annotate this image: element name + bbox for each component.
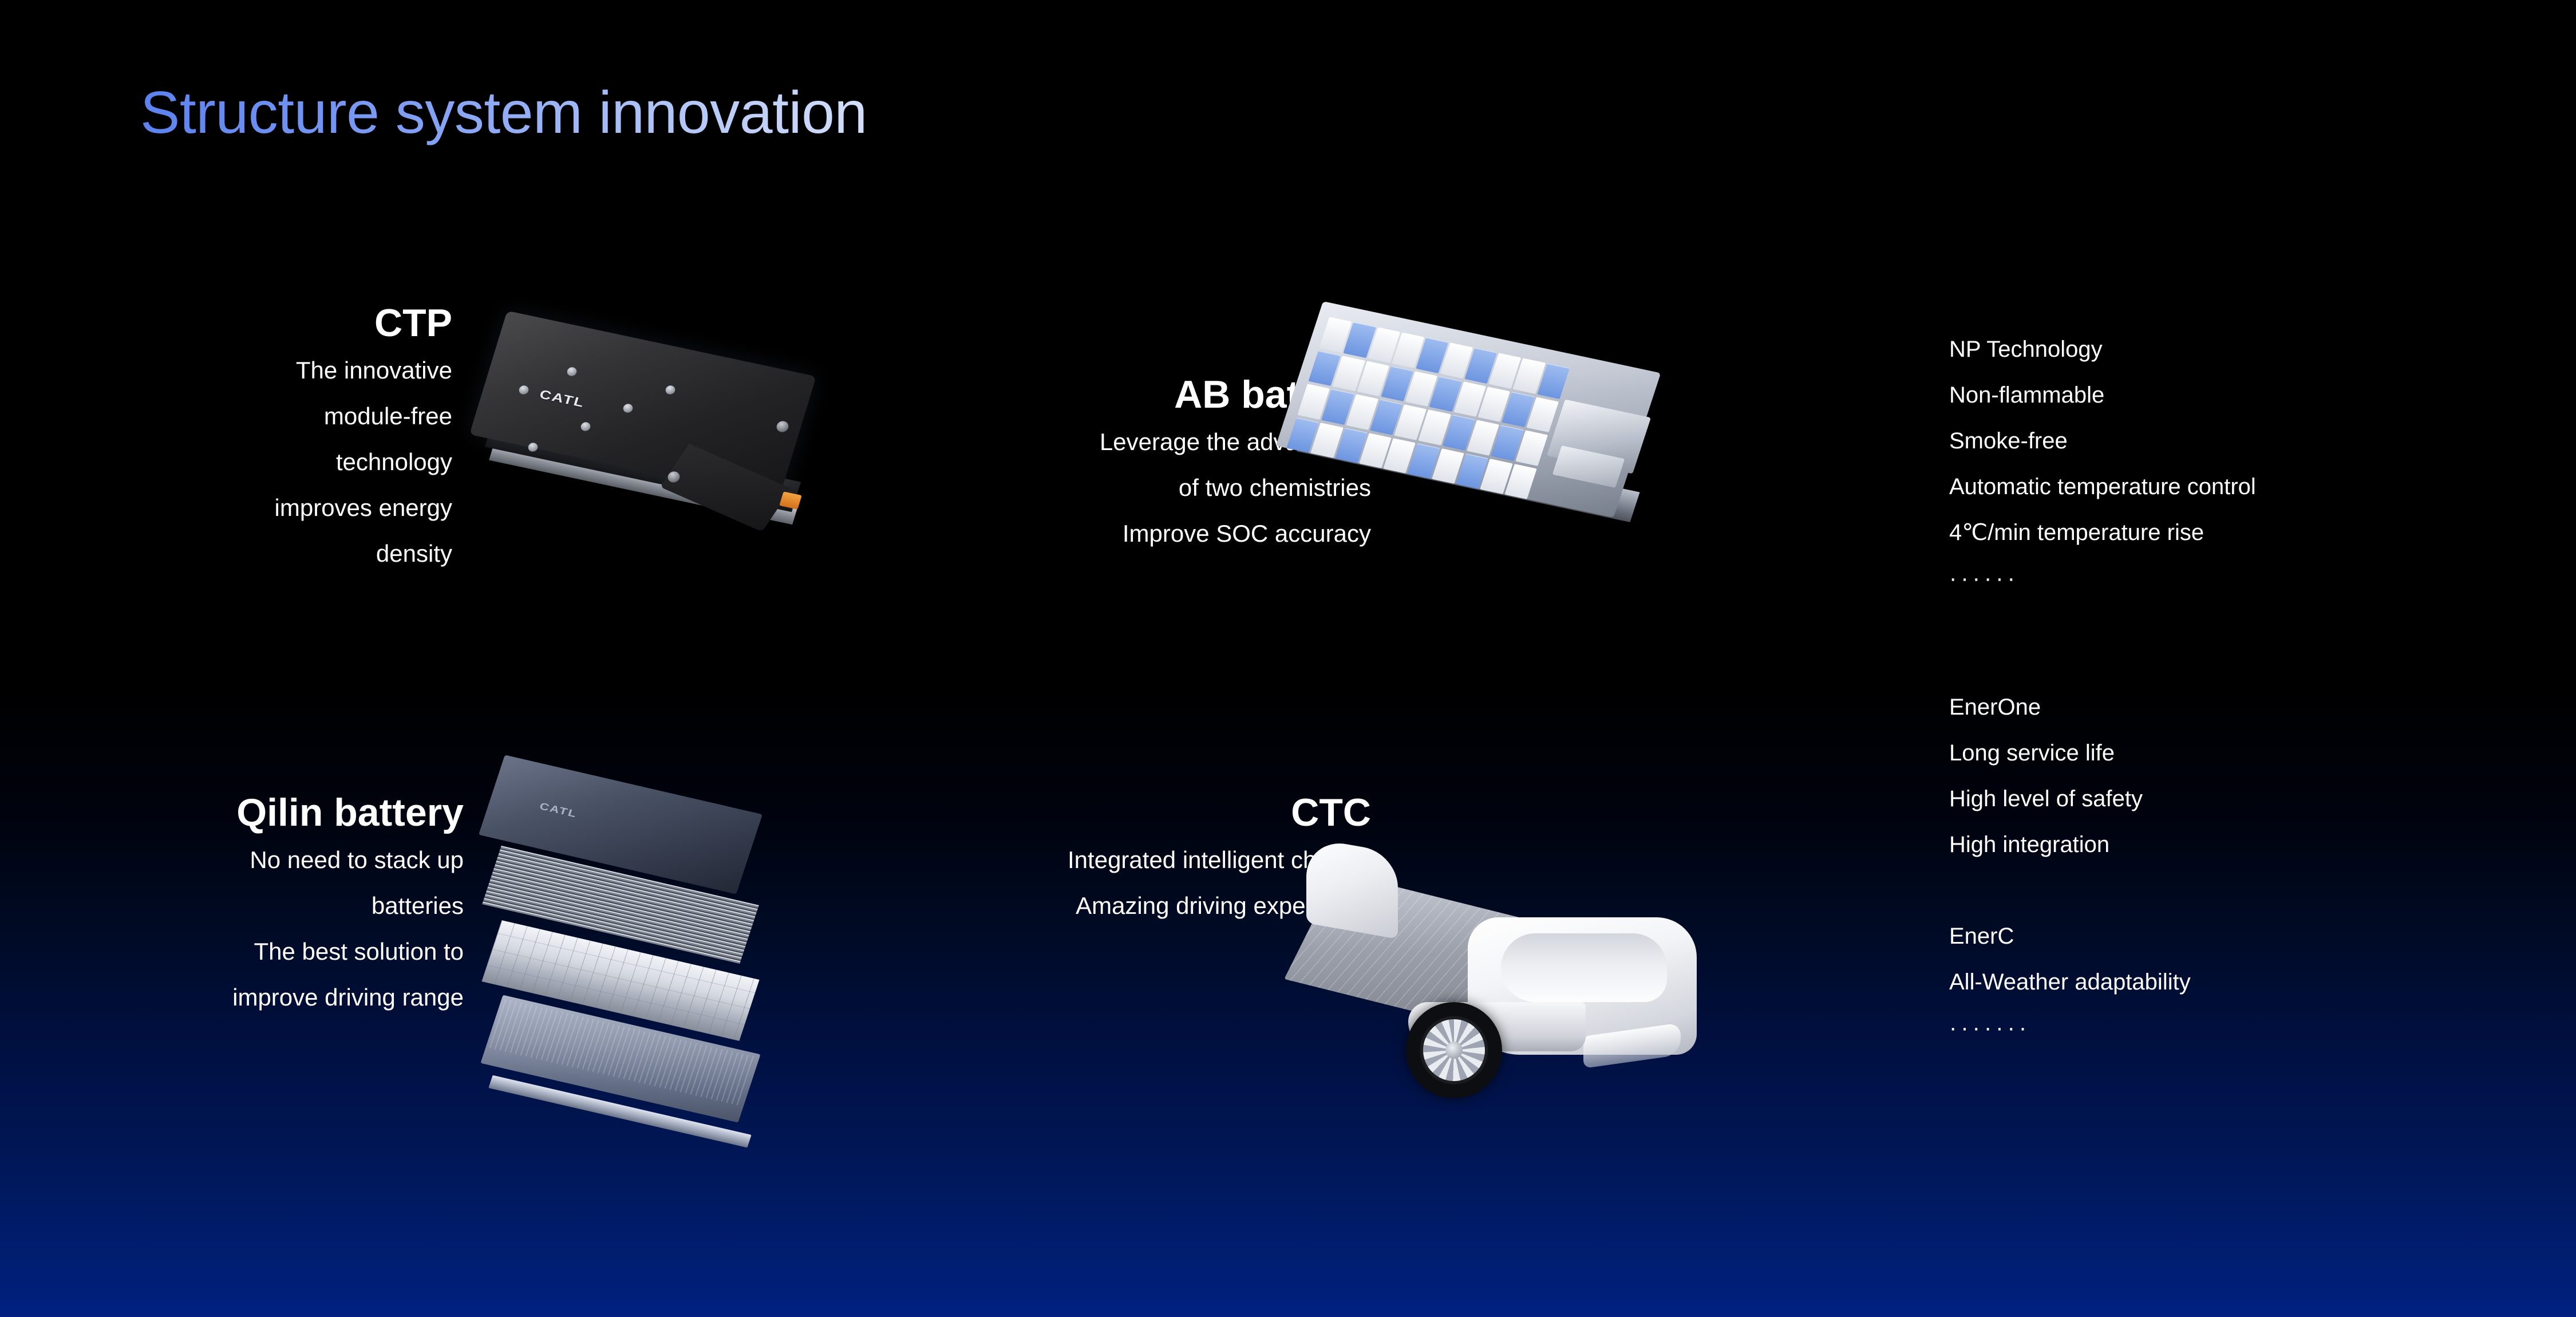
feature-body-ctp: The innovative module-free technology im…: [0, 358, 452, 566]
feature-list-np-technology: NP Technology Non-flammable Smoke-free A…: [1949, 338, 2256, 590]
feature-list-item: Long service life: [1949, 742, 2191, 764]
feature-line: improve driving range: [0, 985, 464, 1010]
feature-line: density: [0, 542, 452, 566]
ctc-chassis-vehicle-image: [1305, 830, 1700, 1117]
ctc-front-wheel: [1406, 1002, 1502, 1098]
wheel-hub-icon: [1445, 1042, 1463, 1059]
feature-line: Integrated intelligent chassis: [856, 848, 1371, 872]
feature-list-item: EnerC: [1949, 925, 2191, 948]
feature-list-item: High integration: [1949, 833, 2191, 856]
feature-list-item: High level of safety: [1949, 787, 2191, 810]
feature-block-ctp: CTP The innovative module-free technolog…: [0, 303, 452, 566]
feature-block-ctc: CTC Integrated intelligent chassis Amazi…: [856, 793, 1371, 918]
feature-line: improves energy: [0, 496, 452, 520]
feature-list-item: EnerOne: [1949, 696, 2191, 719]
feature-heading-ctc: CTC: [856, 793, 1371, 832]
ellipsis-dots: ·······: [1949, 1016, 2191, 1039]
feature-list-item: NP Technology: [1949, 338, 2256, 361]
feature-line: Amazing driving experience: [856, 894, 1371, 918]
feature-line: batteries: [0, 894, 464, 918]
feature-list-item: All-Weather adaptability: [1949, 971, 2191, 993]
catl-logo-text: CATL: [538, 801, 579, 820]
feature-heading-qilin-battery: Qilin battery: [0, 793, 464, 832]
feature-heading-ctp: CTP: [0, 303, 452, 342]
feature-list-item: Automatic temperature control: [1949, 475, 2256, 498]
ellipsis-dots: ······: [1949, 567, 2256, 590]
feature-line: No need to stack up: [0, 848, 464, 872]
slide-canvas: Structure system innovation CTP The inno…: [0, 0, 2576, 1317]
feature-line: Improve SOC accuracy: [856, 522, 1371, 546]
feature-block-qilin-battery: Qilin battery No need to stack up batter…: [0, 793, 464, 1010]
qilin-battery-exploded-view-image: CATL: [489, 776, 799, 1119]
feature-list-item: Smoke-free: [1949, 429, 2256, 452]
feature-line: module-free: [0, 404, 452, 428]
feature-line: of two chemistries: [856, 476, 1371, 500]
feature-list-enerone-enerc: EnerOne Long service life High level of …: [1949, 696, 2191, 1039]
feature-line: The innovative: [0, 358, 452, 383]
ctc-rear-pillar: [1306, 837, 1398, 939]
feature-line: The best solution to: [0, 940, 464, 964]
feature-list-item: 4℃/min temperature rise: [1949, 521, 2256, 544]
page-title: Structure system innovation: [140, 79, 867, 147]
ab-battery-pack-image: [1299, 321, 1654, 550]
ctp-battery-pack-image: CATL: [484, 318, 821, 547]
feature-list-item: Non-flammable: [1949, 384, 2256, 407]
feature-line: technology: [0, 450, 452, 474]
ctc-hood-surface: [1501, 933, 1667, 1002]
feature-body-qilin-battery: No need to stack up batteries The best s…: [0, 848, 464, 1010]
feature-body-ctc: Integrated intelligent chassis Amazing d…: [856, 848, 1371, 918]
